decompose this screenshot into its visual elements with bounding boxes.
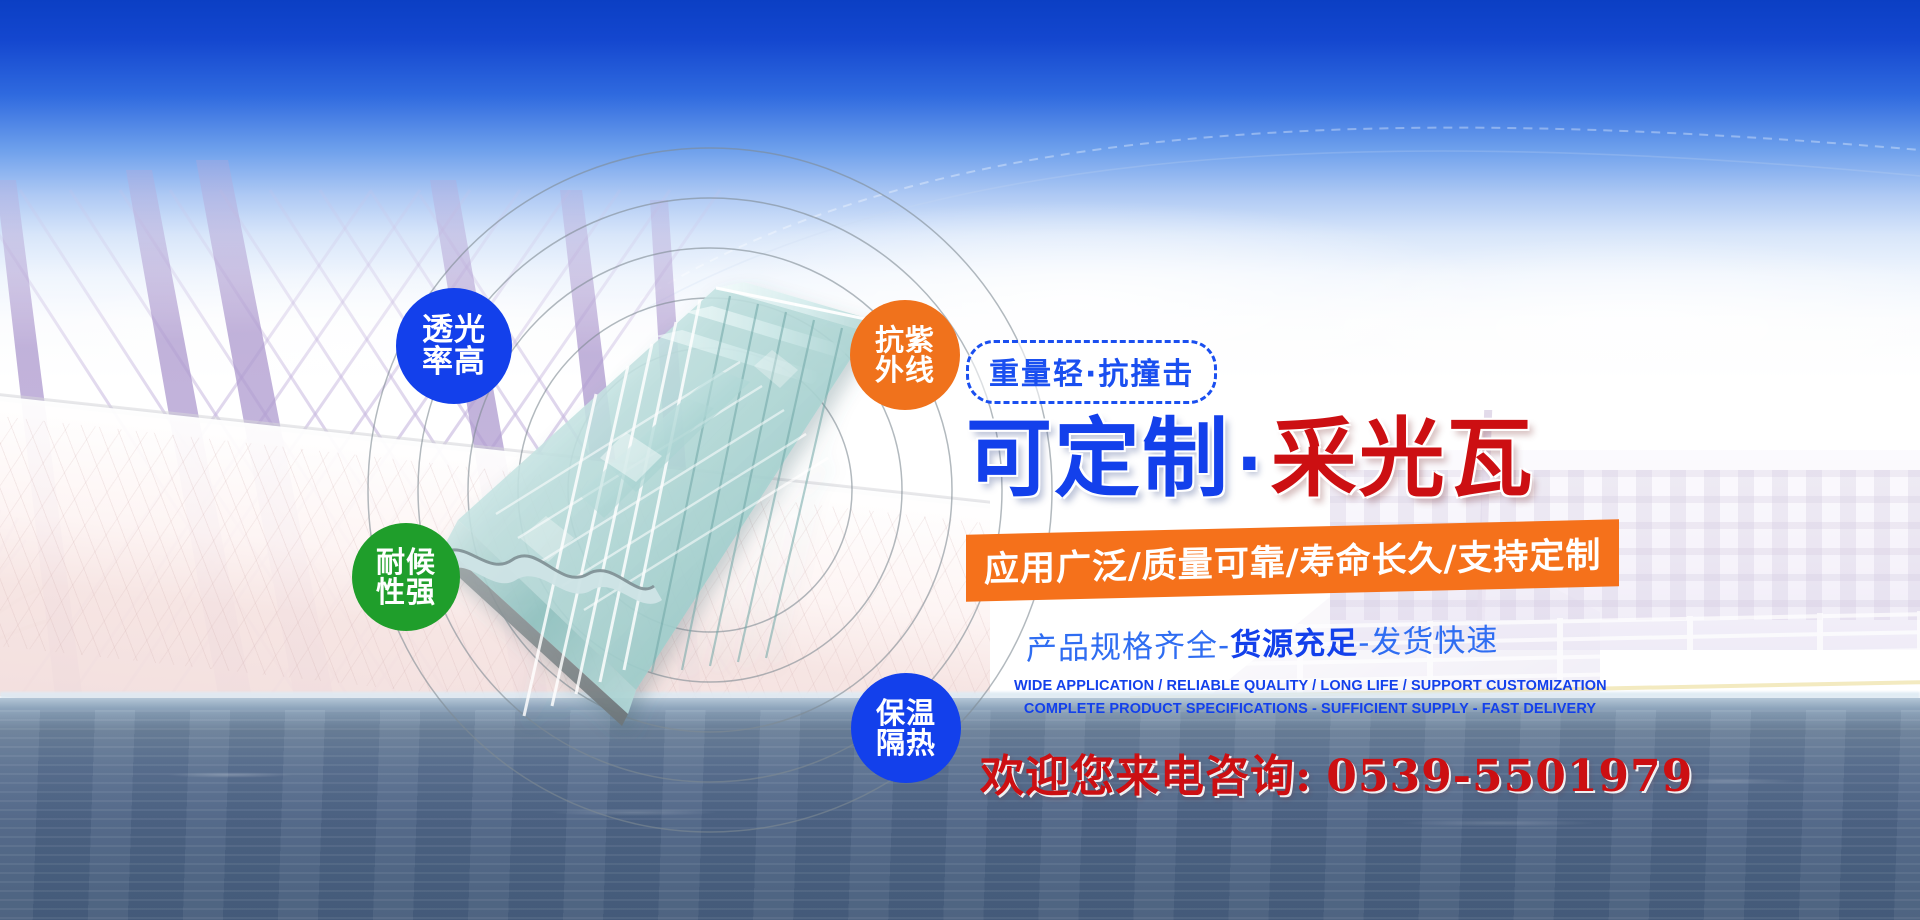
badge-uv-resistant[interactable]: 抗紫 外线 [850,300,960,410]
badge-line-2: 率高 [422,346,486,378]
feature-pill-lightweight-impact: 重量轻·抗撞击 [966,340,1217,404]
badge-line-1: 抗紫 [875,325,935,355]
subline-dash-1: - [1218,628,1230,664]
supply-subline: 产品规格齐全-货源充足-发货快速 [966,612,1656,670]
badge-line-1: 保温 [876,698,936,728]
subline-dash-2: - [1358,625,1370,661]
contact-phone-line[interactable]: 欢迎您来电咨询:0539-5501979 [966,740,1656,804]
page-title: 可定制·采光瓦 [966,414,1656,505]
phone-label: 欢迎您来电咨询: [980,751,1312,802]
subline-sufficient-supply: 货源充足 [1230,625,1358,663]
headline-separator-dot: · [1230,423,1271,505]
marketing-copy-block: 重量轻·抗撞击 可定制·采光瓦 应用广泛/质量可靠/寿命长久/支持定制 产品规格… [966,340,1656,804]
phone-number[interactable]: 0539-5501979 [1312,751,1693,802]
badge-high-light-transmission[interactable]: 透光 率高 [396,288,512,404]
badge-line-2: 隔热 [876,728,936,758]
badge-line-2: 外线 [875,355,935,385]
headline-customizable: 可定制 [966,409,1230,509]
badge-line-1: 透光 [422,314,486,346]
feature-strip-banner: 应用广泛/质量可靠/寿命长久/支持定制 [966,519,1619,601]
english-tagline-block: WIDE APPLICATION / RELIABLE QUALITY / LO… [966,675,1606,720]
product-banner: 透光 率高 抗紫 外线 耐候 性强 保温 隔热 重量轻·抗撞击 可定制·采光瓦 … [0,0,1920,920]
badge-weather-resistant[interactable]: 耐候 性强 [352,523,460,631]
english-tagline-line-2: COMPLETE PRODUCT SPECIFICATIONS - SUFFIC… [1014,698,1606,720]
badge-line-1: 耐候 [376,547,436,577]
subline-specs: 产品规格齐全 [1026,628,1218,668]
subline-fast-delivery: 发货快速 [1370,623,1498,661]
english-tagline-line-1: WIDE APPLICATION / RELIABLE QUALITY / LO… [1014,675,1606,697]
badge-thermal-insulation[interactable]: 保温 隔热 [851,673,961,783]
badge-line-2: 性强 [376,577,436,607]
headline-product-name: 采光瓦 [1271,409,1535,509]
